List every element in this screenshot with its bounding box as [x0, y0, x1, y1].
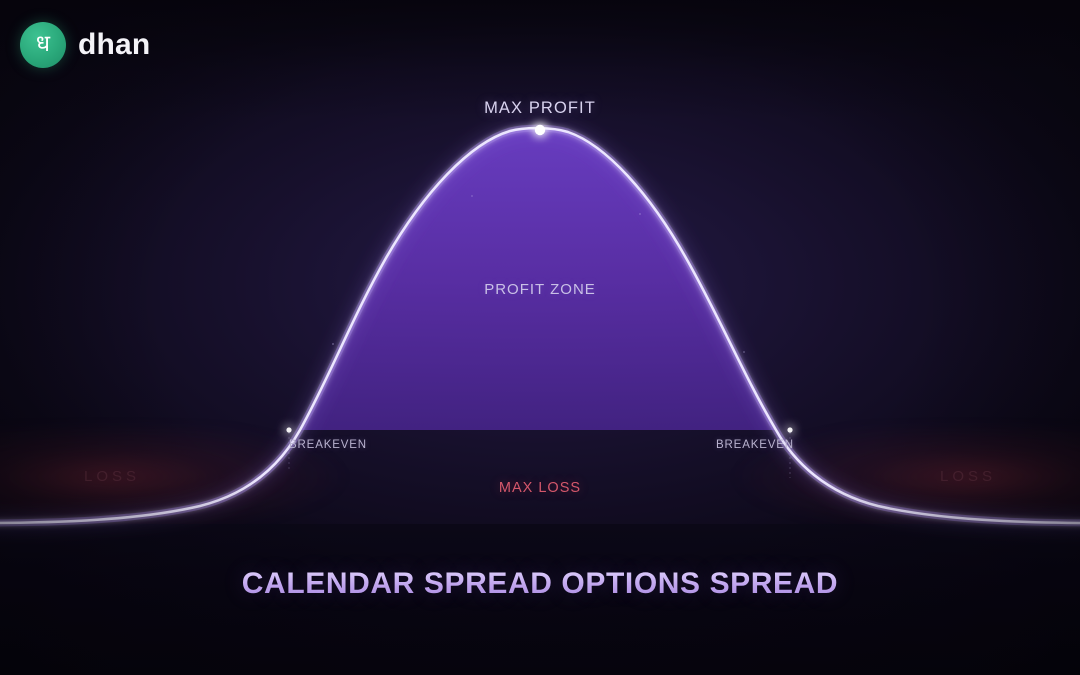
dhan-glyph: ध	[36, 33, 50, 56]
page-title: CALENDAR SPREAD OPTIONS SPREAD	[0, 567, 1080, 601]
brand-logo[interactable]: ध dhan	[20, 22, 150, 68]
chart-canvas: ध dhan MAX PROFIT PROFIT ZONE BREAKEVEN …	[0, 0, 1080, 675]
top-fade-overlay	[0, 0, 1080, 120]
brand-name: dhan	[78, 28, 150, 62]
dhan-mark-icon: ध	[20, 22, 66, 68]
